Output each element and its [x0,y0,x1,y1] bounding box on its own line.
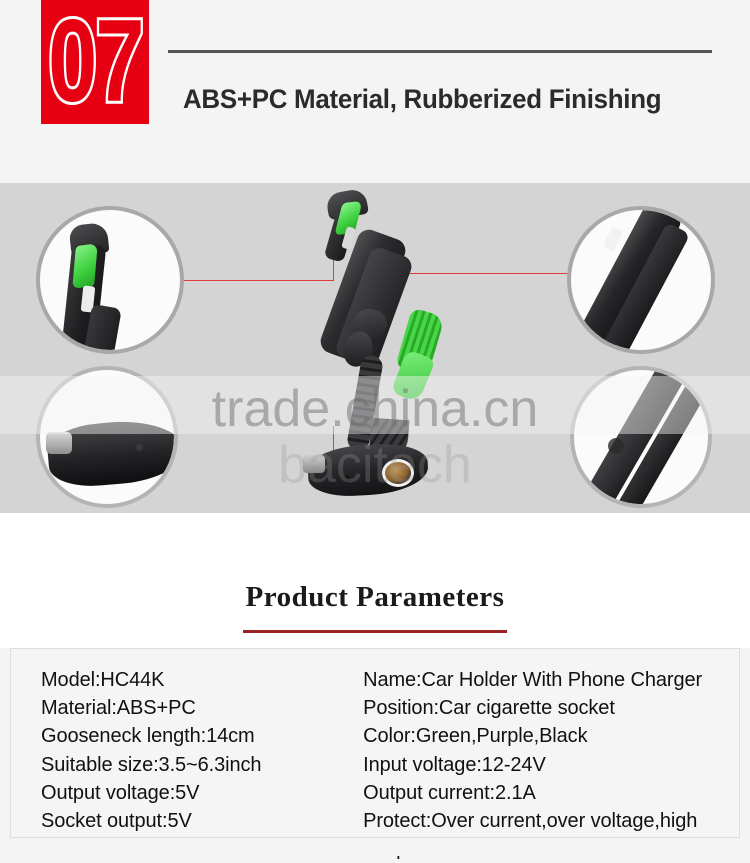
page-title: ABS+PC Material, Rubberized Finishing [183,84,661,115]
parameters-box: Model:HC44K Material:ABS+PC Gooseneck le… [10,648,740,838]
callout-bottom-right-content [574,370,708,504]
param-input-voltage: Input voltage:12-24V [363,751,739,779]
product-image-panel: trade.china.cn bacitech [0,183,750,513]
detail-joint-ring [608,438,624,454]
base-screw-hole [344,475,350,481]
detail-arm-slot [603,226,624,251]
callout-bottom-left-content [40,370,174,504]
param-gooseneck-length: Gooseneck length:14cm [41,722,340,750]
product-stage: trade.china.cn bacitech [0,183,750,513]
callout-bottom-left [36,366,178,508]
callout-bottom-right [570,366,712,508]
param-position: Position:Car cigarette socket [363,694,739,722]
parameters-left-column: Model:HC44K Material:ABS+PC Gooseneck le… [11,649,340,837]
callout-top-left-content [40,210,180,350]
param-color: Color:Green,Purple,Black [363,722,739,750]
callout-top-right [567,206,715,354]
detail-plug-tip [46,432,72,454]
param-model: Model:HC44K [41,666,340,694]
parameters-columns: Model:HC44K Material:ABS+PC Gooseneck le… [11,649,739,837]
param-suitable-size: Suitable size:3.5~6.3inch [41,751,340,779]
callout-top-right-content [571,210,711,350]
cigarette-socket-port [382,459,414,487]
base-contact-tip [303,455,325,473]
parameters-title-section: Product Parameters [0,513,750,648]
param-output-voltage: Output voltage:5V [41,779,340,807]
param-material: Material:ABS+PC [41,694,340,722]
param-socket-output: Socket output:5V [41,807,340,835]
detail-green-pad [72,243,98,289]
header-divider-line [168,50,712,53]
param-name: Name:Car Holder With Phone Charger [363,666,739,694]
product-hero-image [286,183,496,513]
page-header: 07 ABS+PC Material, Rubberized Finishing [0,0,750,183]
parameters-heading: Product Parameters [0,581,750,614]
section-number-text: 07 [48,3,143,120]
page-bottom-strip [0,838,750,856]
detail-plug-hole [136,444,143,451]
parameters-heading-underline [243,630,507,633]
param-output-current: Output current:2.1A [363,779,739,807]
section-number-badge: 07 [41,0,149,124]
parameters-right-column: Name:Car Holder With Phone Charger Posit… [340,649,739,837]
callout-top-left [36,206,184,354]
